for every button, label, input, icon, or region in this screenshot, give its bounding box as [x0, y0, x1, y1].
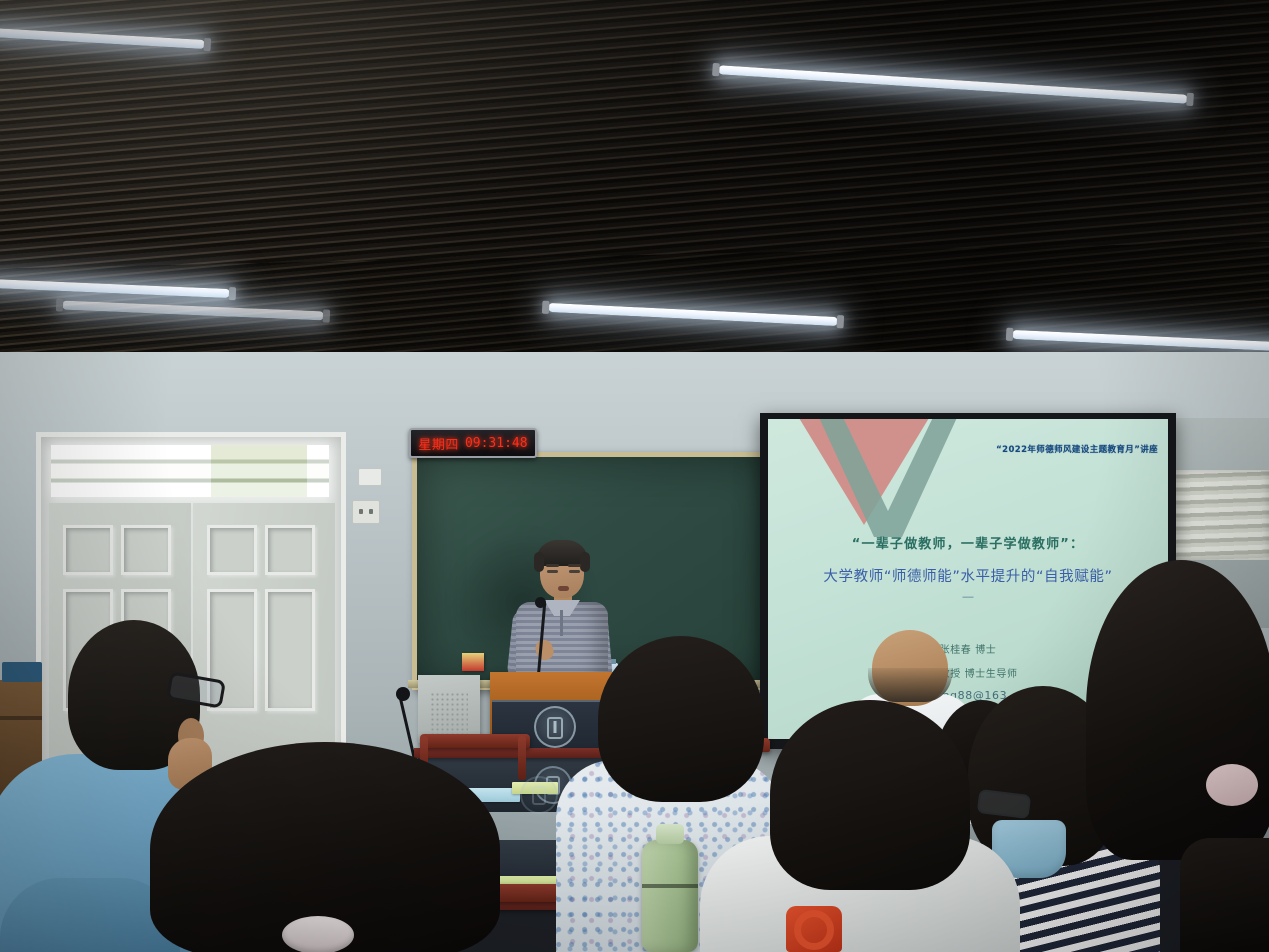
floor-microphone-icon [396, 687, 410, 701]
right-wall-louvers [1168, 470, 1269, 560]
door-panel [265, 525, 315, 575]
clock-weekday: 星期四 [418, 434, 459, 453]
slide-header-text: “2022年师德师风建设主题教育月”讲座 [996, 443, 1158, 455]
chair-post-2 [518, 736, 526, 780]
presenter-mouth [558, 586, 569, 591]
slide-title-line1: “一辈子做教师，一辈子学做教师”： [768, 533, 1168, 552]
green-thermos-bottle [642, 840, 698, 952]
wall-outlet[interactable] [352, 500, 380, 524]
red-water-bottle [786, 906, 842, 952]
presenter-eye-right [569, 570, 580, 573]
presenter-figure [506, 540, 616, 680]
door-panel [265, 589, 315, 711]
door-panel [121, 525, 171, 575]
presenter-brow-right [568, 564, 581, 567]
audience-pink-hairtie-woman-head [1086, 560, 1269, 860]
audience-white-top-woman-head [770, 700, 970, 890]
white-hair-tie-icon [282, 916, 354, 952]
chair-back-1[interactable] [420, 734, 530, 748]
door-panel [63, 525, 113, 575]
lecture-hall-photo: 星期四 09:31:48 “2022年师德师风建设主题教育月”讲座 “一辈子做教… [0, 0, 1269, 952]
presenter-brow-left [546, 564, 559, 567]
pink-hair-tie-icon [1206, 764, 1258, 806]
presenter-placket [560, 610, 563, 636]
loudspeaker-grill [430, 692, 468, 738]
slide-green-v-icon [810, 419, 960, 539]
presenter-eye-left [547, 570, 558, 573]
slide-title-line2: 大学教师“师德师能”水平提升的“自我赋能” [768, 565, 1168, 586]
university-emblem-icon [534, 706, 576, 748]
light-switch[interactable] [358, 468, 382, 486]
presenter-hair [536, 540, 588, 566]
audience-floral-woman-head [598, 636, 764, 802]
audience-bald-man-hair [868, 668, 952, 702]
transom-window [51, 445, 329, 497]
desk-emblem-icon-2 [520, 776, 558, 814]
gooseneck-microphone-icon [535, 597, 546, 608]
audience-pink-hairtie-woman-body [1180, 838, 1269, 952]
desk-box-item [462, 653, 484, 671]
slide-dash: — [768, 591, 1168, 603]
window-greenery [211, 445, 307, 497]
door-panel [207, 525, 257, 575]
clock-time: 09:31:48 [465, 436, 528, 451]
led-clock: 星期四 09:31:48 [409, 428, 537, 458]
